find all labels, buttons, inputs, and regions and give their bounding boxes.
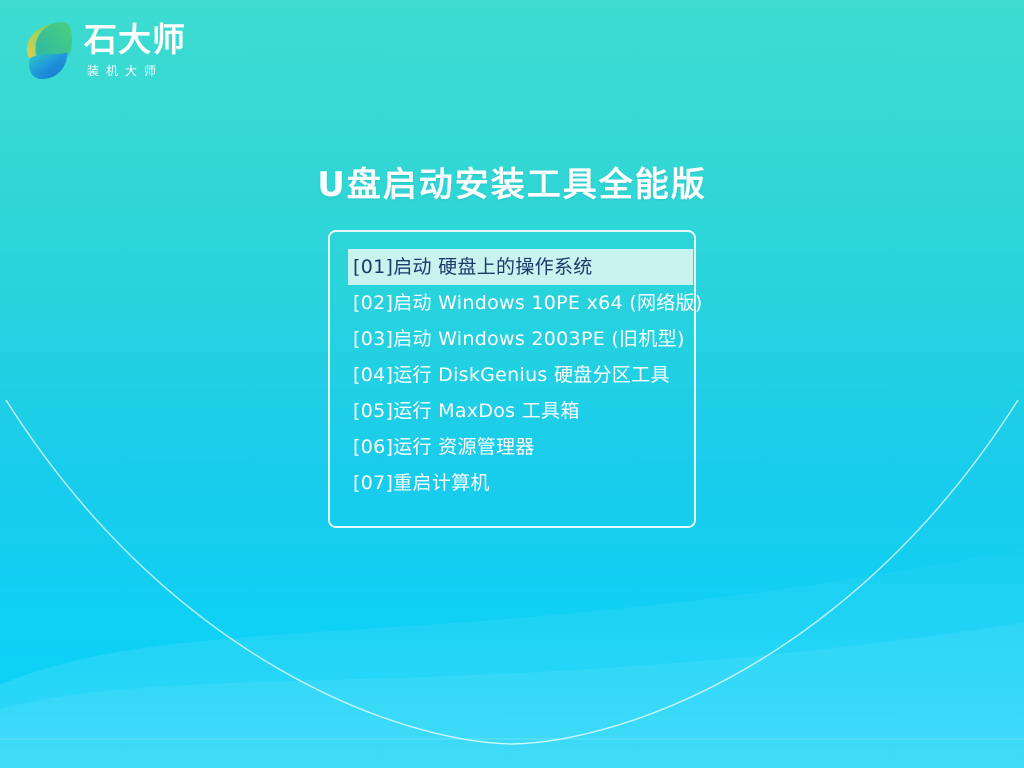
shi-dashi-leaf-logo-icon [22,18,74,82]
menu-item-04[interactable]: [04]运行 DiskGenius 硬盘分区工具 [336,357,688,393]
brand-tagline: 装机大师 [84,62,186,79]
menu-item-01[interactable]: [01]启动 硬盘上的操作系统 [348,249,693,285]
brand-name: 石大师 [84,23,186,58]
brand-logo: 石大师 装机大师 [22,18,186,82]
menu-item-06[interactable]: [06]运行 资源管理器 [336,429,688,465]
page-title: U盘启动安装工具全能版 [0,157,1024,206]
boot-menu-panel: [01]启动 硬盘上的操作系统 [02]启动 Windows 10PE x64 … [328,230,696,528]
brand-text: 石大师 装机大师 [84,21,186,80]
menu-item-05[interactable]: [05]运行 MaxDos 工具箱 [336,393,688,429]
menu-item-03[interactable]: [03]启动 Windows 2003PE (旧机型) [336,321,688,357]
menu-item-02[interactable]: [02]启动 Windows 10PE x64 (网络版) [336,285,688,321]
menu-item-07[interactable]: [07]重启计算机 [336,465,688,501]
